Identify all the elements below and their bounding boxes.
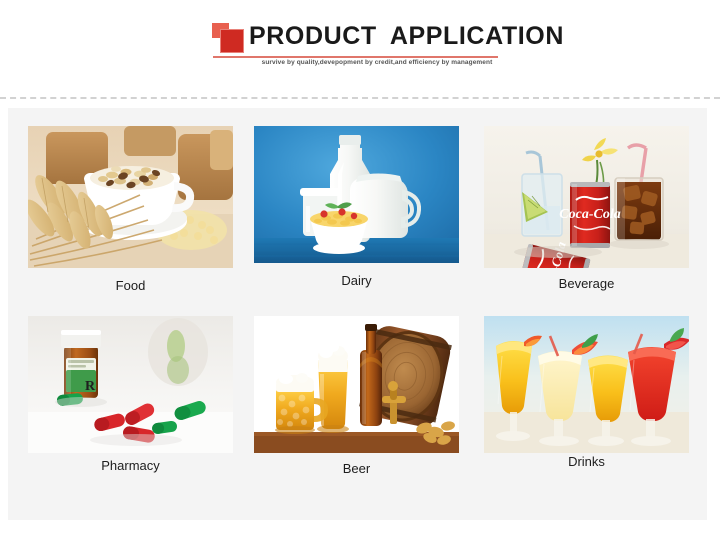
gallery-item-label: Beverage	[484, 276, 689, 291]
brand-tagline: survive by quality,devepopment by credit…	[254, 59, 500, 66]
milk-bottle-jug-photo[interactable]	[254, 126, 459, 263]
pill-bottle-capsules-photo[interactable]: R	[28, 316, 233, 453]
title-word-application: APPLICATION	[390, 18, 564, 54]
svg-text:Coca-Cola: Coca-Cola	[559, 207, 620, 222]
gallery-item-label: Food	[28, 278, 233, 293]
cereal-bowl-wheat-photo[interactable]	[28, 126, 233, 268]
header-dashed-divider	[0, 97, 720, 99]
gallery-panel: Food	[8, 108, 707, 520]
gallery-item-label: Drinks	[484, 454, 689, 469]
two-red-squares-logo-icon	[212, 23, 246, 53]
gallery-item-label: Beer	[254, 461, 459, 476]
page-title: PRODUCTAPPLICATION	[249, 18, 564, 54]
gallery-item-label: Dairy	[254, 273, 459, 288]
gallery-item-label: Pharmacy	[28, 458, 233, 473]
title-underline-rule	[213, 56, 498, 58]
beer-glasses-barrel-photo[interactable]	[254, 316, 459, 453]
tropical-cocktails-photo[interactable]	[484, 316, 689, 453]
coca-cola-cans-glass-photo[interactable]: Coca-Cola Coca-Cola	[484, 126, 689, 268]
title-word-product: PRODUCT	[249, 18, 377, 54]
brand-lockup: PRODUCTAPPLICATION survive by quality,de…	[212, 18, 500, 68]
logo-square-dark	[220, 29, 244, 53]
page-header: PRODUCTAPPLICATION survive by quality,de…	[0, 0, 720, 98]
svg-text:R: R	[85, 379, 96, 394]
gallery-grid: Food	[8, 108, 707, 520]
